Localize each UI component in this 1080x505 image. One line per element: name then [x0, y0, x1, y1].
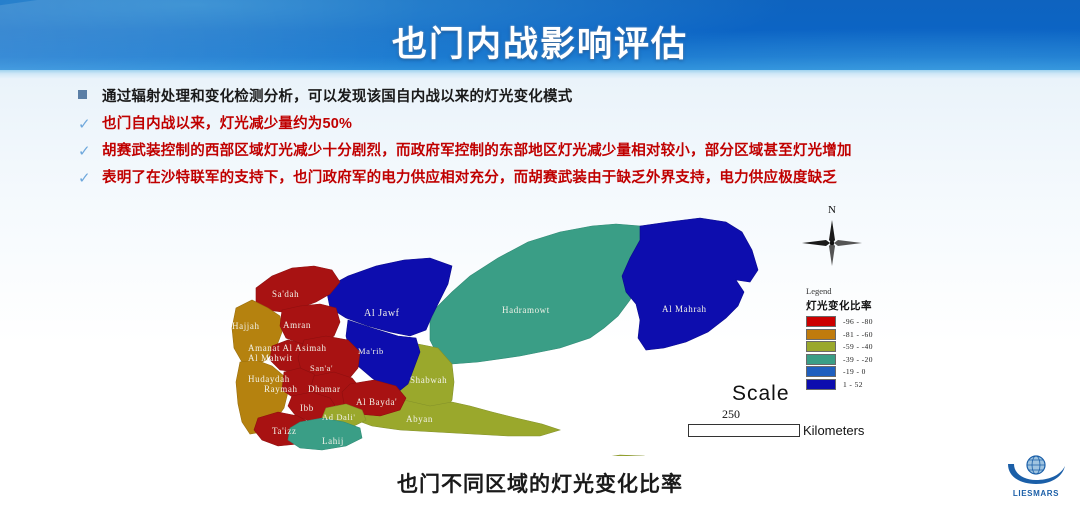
region-label: Ad Dali' [322, 412, 355, 422]
region-label: Hajjah [232, 321, 260, 331]
legend-item: -59 - -40 [806, 341, 916, 352]
scale-unit: Kilometers [803, 423, 864, 438]
bullet-text: 胡赛武装控制的西部区域灯光减少十分剧烈，而政府军控制的东部地区灯光减少量相对较小… [102, 142, 852, 161]
check-bullet-icon: ✓ [78, 115, 102, 132]
compass-rose: N [800, 206, 864, 268]
legend-range: -59 - -40 [843, 342, 873, 351]
list-item: ✓ 表明了在沙特联军的支持下，也门政府军的电力供应相对充分，而胡赛武装由于缺乏外… [78, 169, 1038, 188]
region-label: Al Bayda' [356, 397, 397, 407]
legend-item: -81 - -60 [806, 329, 916, 340]
region-label: San'a' [310, 363, 333, 373]
region-label: Amanat Al Asimah [248, 343, 327, 353]
region-label: Al Mahrah [662, 304, 707, 314]
yemen-choropleth-map: Sa'dah Al Jawf Hajjah Amran Amanat Al As… [0, 196, 1080, 456]
region-label: Raymah [264, 384, 298, 394]
region-hadramowt [430, 224, 652, 364]
region-label: Ma'rib [358, 346, 384, 356]
region-label: Hadramowt [502, 305, 550, 315]
legend-swatch [806, 329, 836, 340]
check-bullet-icon: ✓ [78, 142, 102, 159]
square-bullet-icon [78, 88, 102, 99]
list-item: 通过辐射处理和变化检测分析，可以发现该国自内战以来的灯光变化模式 [78, 88, 1038, 107]
region-socotra [600, 455, 658, 456]
legend-range: -96 - -80 [843, 317, 873, 326]
region-label: Shabwah [410, 375, 447, 385]
liesmars-logo: LIESMARS [1002, 452, 1070, 498]
region-label: Al Jawf [364, 308, 400, 319]
legend-range: -81 - -60 [843, 330, 873, 339]
scale-bar-row: Kilometers [688, 423, 898, 438]
map-svg: Sa'dah Al Jawf Hajjah Amran Amanat Al As… [0, 196, 1080, 456]
bullet-text: 表明了在沙特联军的支持下，也门政府军的电力供应相对充分，而胡赛武装由于缺乏外界支… [102, 169, 837, 188]
region-al-mahrah [622, 218, 758, 350]
compass-north-label: N [800, 204, 864, 216]
region-label: Hudaydah [248, 374, 290, 384]
region-label: Sa'dah [272, 289, 299, 299]
figure-caption: 也门不同区域的灯光变化比率 [0, 468, 1080, 498]
region-label: Abyan [406, 414, 433, 424]
legend-swatch [806, 316, 836, 327]
bullet-list: 通过辐射处理和变化检测分析，可以发现该国自内战以来的灯光变化模式 ✓ 也门自内战… [78, 88, 1038, 196]
list-item: ✓ 也门自内战以来，灯光减少量约为50% [78, 115, 1038, 134]
region-label: Ta'izz [272, 426, 297, 436]
legend-item: -19 - 0 [806, 366, 916, 377]
list-item: ✓ 胡赛武装控制的西部区域灯光减少十分剧烈，而政府军控制的东部地区灯光减少量相对… [78, 142, 1038, 161]
logo-text: LIESMARS [1002, 489, 1070, 498]
region-label: Dhamar [308, 384, 341, 394]
legend-title-en: Legend [806, 286, 916, 296]
legend-swatch [806, 366, 836, 377]
bullet-text: 也门自内战以来，灯光减少量约为50% [102, 115, 352, 134]
scale-value: 250 [722, 407, 898, 422]
bullet-text: 通过辐射处理和变化检测分析，可以发现该国自内战以来的灯光变化模式 [102, 88, 572, 107]
map-scale-bar: Scale 250 Kilometers [688, 382, 898, 438]
region-label: Lahij [322, 436, 344, 446]
legend-title-cn: 灯光变化比率 [806, 298, 916, 313]
scale-title: Scale [732, 382, 898, 406]
page-title: 也门内战影响评估 [0, 16, 1080, 67]
region-label: Ibb [300, 403, 314, 413]
scale-bar-rect [688, 424, 800, 437]
region-label: Al Mahwit [248, 353, 293, 363]
slide-header: 也门内战影响评估 [0, 0, 1080, 79]
legend-swatch [806, 354, 836, 365]
legend-range: -39 - -20 [843, 355, 873, 364]
legend-swatch [806, 341, 836, 352]
map-regions [232, 218, 758, 456]
legend-range: -19 - 0 [843, 367, 866, 376]
slide: 也门内战影响评估 通过辐射处理和变化检测分析，可以发现该国自内战以来的灯光变化模… [0, 0, 1080, 505]
legend-item: -96 - -80 [806, 316, 916, 327]
compass-icon [800, 218, 864, 268]
legend-item: -39 - -20 [806, 354, 916, 365]
check-bullet-icon: ✓ [78, 169, 102, 186]
region-label: Amran [283, 320, 311, 330]
map-legend: Legend 灯光变化比率 -96 - -80 -81 - -60 -59 - … [806, 286, 916, 391]
logo-icon [1002, 452, 1070, 488]
